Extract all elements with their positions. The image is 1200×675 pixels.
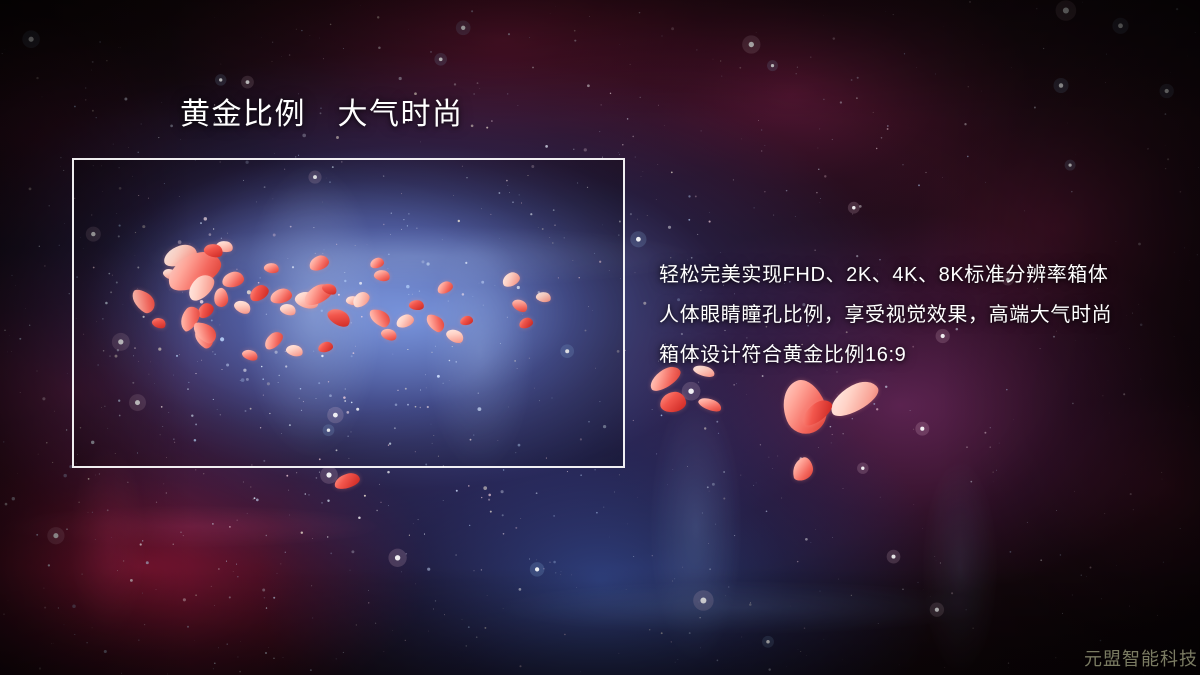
petal: [232, 298, 253, 317]
petal: [279, 302, 298, 318]
body-copy: 轻松完美实现FHD、2K、4K、8K标准分辨率箱体 人体眼睛瞳孔比例，享受视觉效…: [659, 255, 1189, 375]
body-line-2: 人体眼睛瞳孔比例，享受视觉效果，高端大气时尚: [659, 295, 1189, 335]
body-line-1: 轻松完美实现FHD、2K、4K、8K标准分辨率箱体: [659, 255, 1189, 295]
petal: [175, 303, 204, 333]
watermark: 元盟智能科技: [1084, 645, 1198, 671]
petal: [790, 456, 816, 482]
petal: [825, 375, 883, 421]
frame-inner-shade: [74, 160, 623, 466]
petal: [307, 253, 330, 272]
petal: [247, 282, 271, 304]
page-title: 黄金比例 大气时尚: [180, 100, 464, 130]
petal: [659, 391, 687, 414]
body-line-3: 箱体设计符合黄金比例16:9: [659, 335, 1189, 375]
presentation-slide: 黄金比例 大气时尚 轻松完美实现FHD、2K、4K、8K标准分辨率箱体 人体眼睛…: [0, 0, 1200, 675]
petal: [263, 262, 280, 275]
petal: [221, 270, 245, 289]
petal: [183, 270, 218, 304]
petal: [774, 374, 833, 440]
petal: [190, 320, 220, 346]
petal: [162, 245, 226, 297]
petal: [697, 395, 723, 414]
petal: [798, 396, 835, 430]
petal: [333, 471, 362, 492]
petal: [127, 286, 159, 315]
petal: [321, 281, 339, 297]
petal: [203, 242, 225, 260]
petal: [350, 289, 372, 310]
nebula-photo-frame[interactable]: [72, 158, 625, 468]
petal: [151, 316, 168, 331]
petal: [373, 268, 391, 283]
